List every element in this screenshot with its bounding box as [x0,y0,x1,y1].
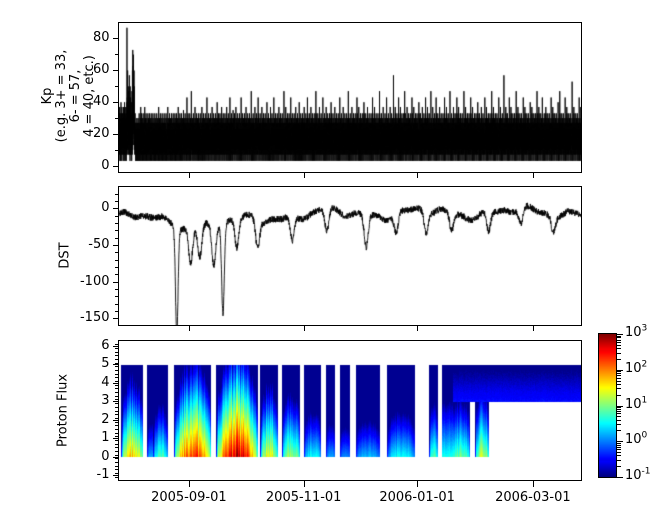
proton-flux-axis-label: Proton Flux [55,340,70,480]
axis-tick [115,223,119,224]
axis-tick [417,481,418,487]
colorbar [598,333,617,478]
dst-ytick-neg100: -100 [80,274,110,289]
axis-tick [115,392,119,393]
axis-tick [617,381,621,382]
axis-tick [115,296,119,297]
axis-tick [617,466,621,467]
axis-tick [617,449,621,450]
kp-axis-label-line1: Kp [40,87,55,104]
axis-tick [115,462,119,463]
axis-tick [115,260,119,261]
axis-tick [115,414,119,415]
axis-tick [617,416,621,417]
xtick-2006-01-01: 2006-01-01 [372,490,462,505]
colorbar-label-4: 10-1 [625,468,651,483]
kp-ytick-40: 40 [93,94,110,109]
dst-ytick-neg50: -50 [88,237,109,252]
axis-tick [617,371,621,372]
axis-tick [617,345,621,346]
axis-tick [115,377,119,378]
axis-tick [115,252,119,253]
axis-tick [115,348,119,349]
axis-tick [115,447,119,448]
axis-tick [617,452,621,453]
axis-tick [617,388,621,389]
axis-tick [417,326,418,331]
colorbar-label-3: 100 [625,432,647,447]
axis-tick [115,458,119,459]
axis-tick [115,374,119,375]
axis-tick [115,425,119,426]
axis-tick [617,395,621,396]
axis-tick [115,118,119,119]
axis-tick [115,429,119,430]
axis-tick [115,274,119,275]
axis-tick [617,413,621,414]
flux-ytick-2: 2 [101,412,109,427]
proton-flux-panel [118,340,582,481]
axis-tick [617,407,621,408]
axis-tick [115,396,119,397]
axis-tick [113,102,119,103]
axis-tick [617,348,621,349]
proton-flux-spectrogram [119,341,581,480]
kp-axis-label-line2: (e.g. 3+ = 33, [54,49,69,142]
axis-tick [115,388,119,389]
axis-tick [113,70,119,71]
axis-tick [115,411,119,412]
kp-axis-label-line3: 6- = 57, [68,69,83,122]
axis-tick [115,216,119,217]
axis-tick [189,326,190,331]
axis-tick [617,424,621,425]
axis-tick [115,466,119,467]
axis-tick [115,473,119,474]
axis-tick [115,230,119,231]
axis-tick [115,194,119,195]
axis-tick [115,352,119,353]
axis-tick [617,411,621,412]
xtick-2006-03-01: 2006-03-01 [488,490,578,505]
axis-tick [113,208,119,209]
dst-axis-label: DST [57,196,72,316]
axis-tick [113,38,119,39]
axis-tick [115,469,119,470]
axis-tick [115,455,119,456]
dst-line-plot [119,187,581,325]
axis-tick [304,481,305,487]
axis-tick [115,366,119,367]
axis-tick [115,407,119,408]
flux-ytick-neg1: -1 [97,467,110,482]
axis-tick [113,318,119,319]
axis-tick [533,326,534,331]
axis-tick [189,173,190,178]
axis-tick [617,359,621,360]
axis-tick [115,267,119,268]
axis-tick [617,447,621,448]
kp-ytick-20: 20 [93,126,110,141]
axis-tick [617,460,621,461]
axis-tick [617,409,621,410]
axis-tick [115,355,119,356]
axis-tick [115,403,119,404]
dst-ytick-neg150: -150 [80,310,110,325]
colorbar-gradient [599,334,616,477]
axis-tick [115,440,119,441]
axis-tick [617,373,621,374]
axis-tick [617,340,621,341]
flux-ytick-1: 1 [101,430,109,445]
colorbar-label-0: 103 [625,325,647,340]
axis-tick [115,304,119,305]
axis-tick [115,238,119,239]
axis-tick [115,451,119,452]
axis-tick [617,353,621,354]
axis-tick [304,326,305,331]
axis-tick [617,420,621,421]
axis-tick [533,173,534,178]
kp-ytick-60: 60 [93,62,110,77]
axis-tick [115,54,119,55]
dst-ytick-0: 0 [101,200,109,215]
axis-tick [115,311,119,312]
axis-tick [113,438,119,439]
axis-tick [115,201,119,202]
axis-tick [115,477,119,478]
axis-tick [113,364,119,365]
flux-ytick-0: 0 [101,449,109,464]
axis-tick [113,401,119,402]
axis-tick [617,430,621,431]
kp-line-plot [119,23,581,172]
colorbar-label-1: 102 [625,361,647,376]
axis-tick [617,375,621,376]
kp-axis-label: Kp (e.g. 3+ = 33, 6- = 57, 4 = 40, etc.) [41,16,97,176]
axis-tick [304,173,305,178]
axis-tick [617,342,621,343]
axis-tick [115,385,119,386]
xtick-2005-11-01: 2005-11-01 [259,490,349,505]
axis-tick [115,444,119,445]
axis-tick [617,443,621,444]
axis-tick [115,399,119,400]
axis-tick [115,422,119,423]
axis-tick [115,381,119,382]
axis-tick [113,245,119,246]
axis-tick [113,420,119,421]
axis-tick [417,173,418,178]
kp-ytick-80: 80 [93,30,110,45]
xtick-2005-09-01: 2005-09-01 [144,490,234,505]
axis-tick [115,436,119,437]
axis-tick [115,363,119,364]
kp-panel [118,22,582,173]
axis-tick [115,150,119,151]
axis-tick [189,481,190,487]
axis-tick [113,166,119,167]
axis-tick [115,289,119,290]
colorbar-label-2: 101 [625,397,647,412]
axis-tick [617,445,621,446]
axis-tick [617,378,621,379]
flux-ytick-4: 4 [101,375,109,390]
axis-tick [115,344,119,345]
axis-tick [113,346,119,347]
flux-ytick-5: 5 [101,356,109,371]
axis-tick [617,455,621,456]
axis-tick [617,477,623,478]
axis-tick [617,337,621,338]
axis-tick [113,282,119,283]
axis-tick [115,418,119,419]
axis-tick [113,134,119,135]
axis-tick [617,336,621,337]
axis-tick [113,383,119,384]
axis-tick [115,359,119,360]
axis-tick [115,433,119,434]
kp-ytick-0: 0 [101,158,109,173]
dst-panel [118,186,582,326]
axis-tick [115,370,119,371]
axis-tick [533,481,534,487]
flux-ytick-3: 3 [101,393,109,408]
flux-ytick-6: 6 [101,338,109,353]
axis-tick [115,86,119,87]
axis-tick [617,384,621,385]
axis-tick [113,475,119,476]
axis-tick [113,457,119,458]
